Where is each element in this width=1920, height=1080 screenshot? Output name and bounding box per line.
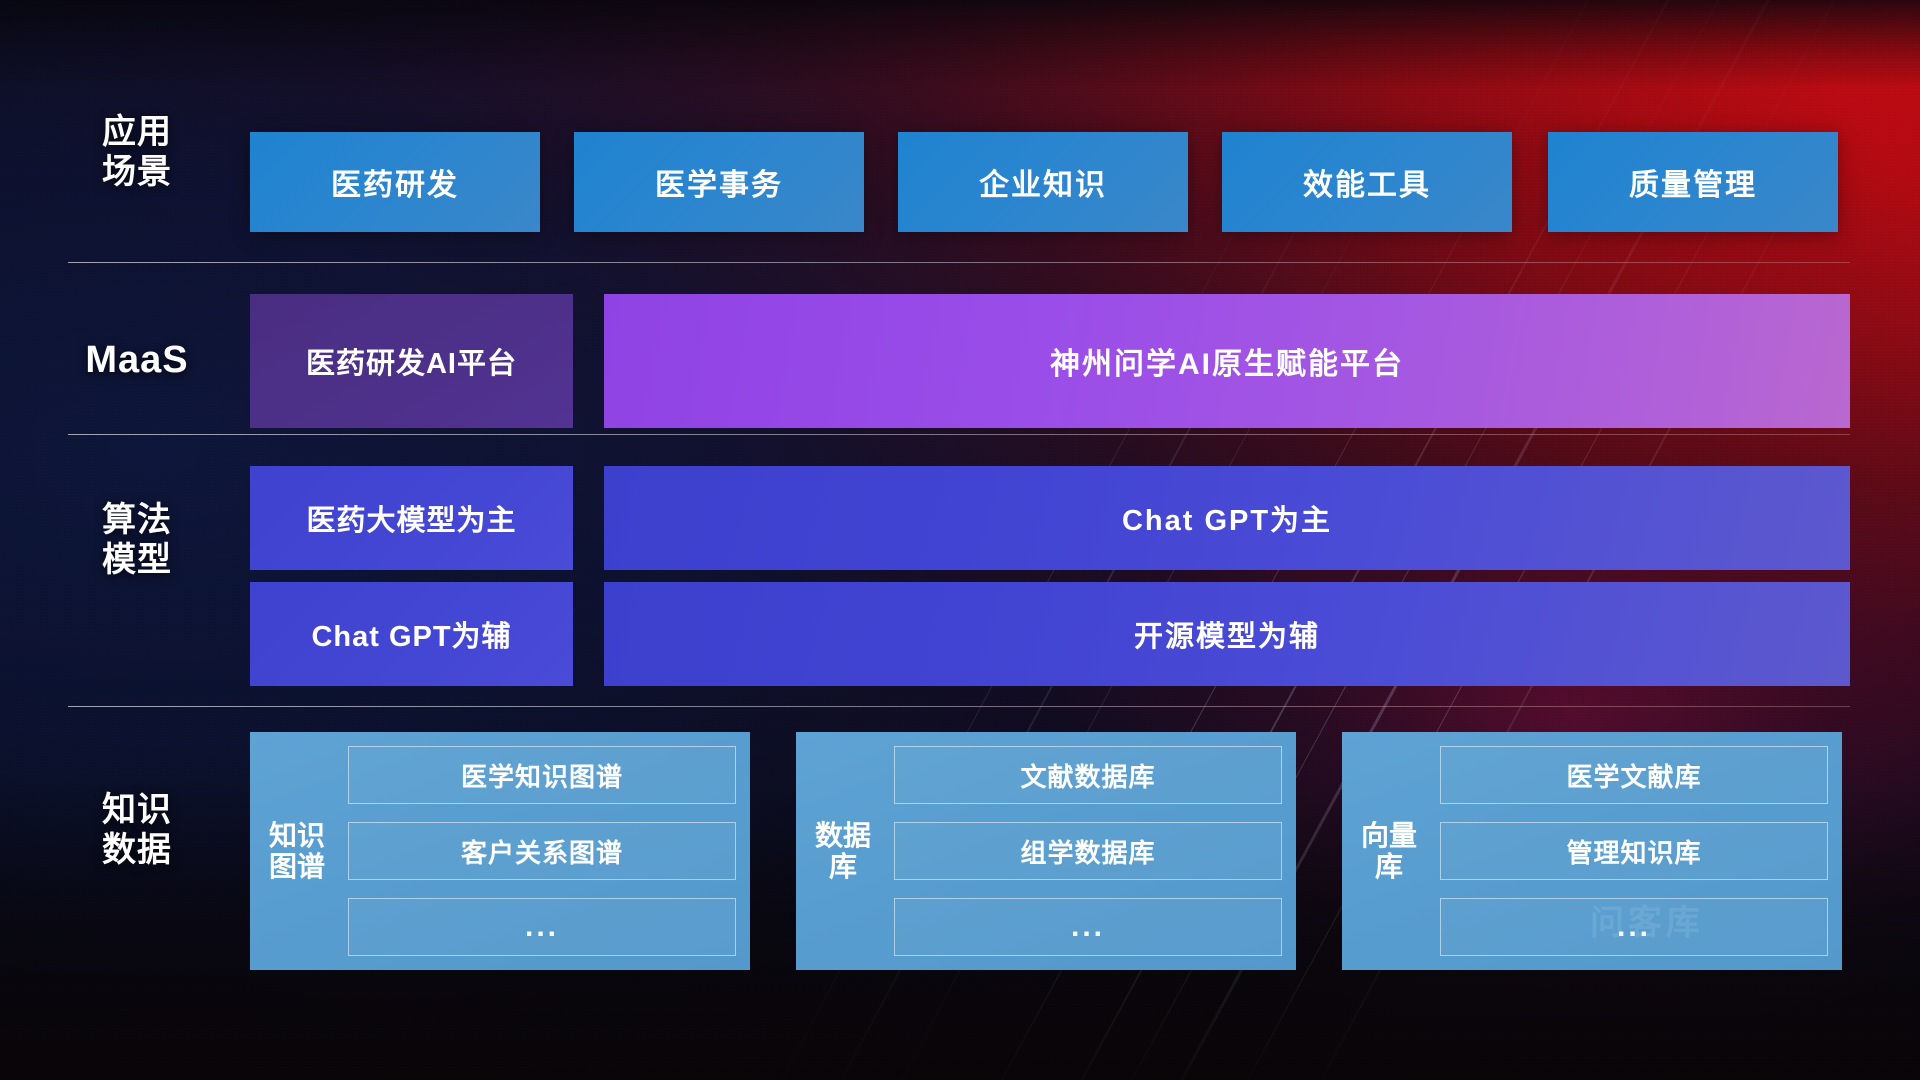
- row-label-line-2: 数据: [68, 830, 206, 870]
- knowledge-item[interactable]: 医学知识图谱: [348, 746, 736, 804]
- maas-box-left[interactable]: 医药研发AI平台: [250, 294, 573, 428]
- divider-3: [68, 706, 1850, 707]
- algorithm-box-row1-right[interactable]: Chat GPT为主: [604, 466, 1850, 570]
- row-label-line-2: 场景: [68, 152, 206, 192]
- app-box-1[interactable]: 医药研发: [250, 132, 540, 232]
- row-label-line-1: 应用: [68, 112, 206, 152]
- algorithm-box-row1-left[interactable]: 医药大模型为主: [250, 466, 573, 570]
- knowledge-panel-knowledge-graph[interactable]: 知识图谱 医学知识图谱 客户关系图谱 ...: [250, 732, 750, 970]
- knowledge-panel-title-1: 知识图谱: [266, 746, 328, 956]
- knowledge-item[interactable]: 客户关系图谱: [348, 822, 736, 880]
- row-label-application-scenarios: 应用 场景: [68, 112, 206, 192]
- knowledge-panel-items-3: 医学文献库 管理知识库 ...: [1420, 746, 1828, 956]
- knowledge-panel-title-3: 向量库: [1358, 746, 1420, 956]
- row-label-line-2: 模型: [68, 540, 206, 580]
- divider-2: [68, 434, 1850, 435]
- maas-box-right[interactable]: 神州问学AI原生赋能平台: [604, 294, 1850, 428]
- knowledge-item[interactable]: 文献数据库: [894, 746, 1282, 804]
- knowledge-item-more[interactable]: ...: [894, 898, 1282, 956]
- app-box-5[interactable]: 质量管理: [1548, 132, 1838, 232]
- knowledge-panel-database[interactable]: 数据库 文献数据库 组学数据库 ...: [796, 732, 1296, 970]
- divider-1: [68, 262, 1850, 263]
- knowledge-panel-items-2: 文献数据库 组学数据库 ...: [874, 746, 1282, 956]
- diagram-content: 应用 场景 医药研发 医学事务 企业知识 效能工具 质量管理 MaaS 医药研发…: [0, 0, 1920, 1080]
- row-label-knowledge-data: 知识 数据: [68, 790, 206, 870]
- row-label-algorithm-models: 算法 模型: [68, 500, 206, 580]
- row-label-line-1: 算法: [68, 500, 206, 540]
- algorithm-box-row2-left[interactable]: Chat GPT为辅: [250, 582, 573, 686]
- slide-canvas: 应用 场景 医药研发 医学事务 企业知识 效能工具 质量管理 MaaS 医药研发…: [0, 0, 1920, 1080]
- app-box-4[interactable]: 效能工具: [1222, 132, 1512, 232]
- knowledge-item-more[interactable]: ...: [348, 898, 736, 956]
- row-label-maas: MaaS: [68, 338, 206, 383]
- knowledge-item-more[interactable]: ...: [1440, 898, 1828, 956]
- algorithm-box-row2-right[interactable]: 开源模型为辅: [604, 582, 1850, 686]
- knowledge-panel-vector-store[interactable]: 向量库 医学文献库 管理知识库 ...: [1342, 732, 1842, 970]
- app-box-3[interactable]: 企业知识: [898, 132, 1188, 232]
- knowledge-item[interactable]: 组学数据库: [894, 822, 1282, 880]
- row-label-line-1: 知识: [68, 790, 206, 830]
- knowledge-item[interactable]: 管理知识库: [1440, 822, 1828, 880]
- knowledge-panel-title-2: 数据库: [812, 746, 874, 956]
- knowledge-item[interactable]: 医学文献库: [1440, 746, 1828, 804]
- app-box-2[interactable]: 医学事务: [574, 132, 864, 232]
- knowledge-panel-items-1: 医学知识图谱 客户关系图谱 ...: [328, 746, 736, 956]
